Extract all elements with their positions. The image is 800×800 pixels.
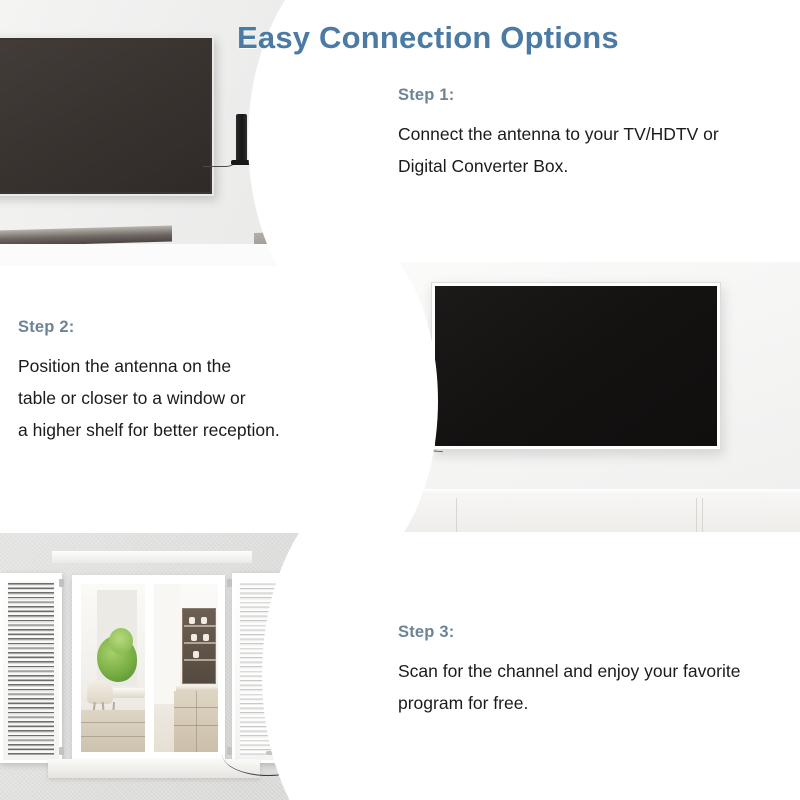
shelf-board [184, 642, 216, 644]
panel-arc-mask [336, 262, 438, 532]
window-pane-left [81, 584, 145, 752]
shelf-jar [191, 634, 197, 641]
step-2-line: Position the antenna on the [18, 351, 338, 383]
louver-slats [8, 581, 54, 755]
kitchen-drawers [174, 691, 218, 752]
console-seam [456, 498, 457, 532]
cabinet-line [81, 736, 145, 737]
drawer-divider [196, 691, 197, 752]
step-1-body: Connect the antenna to your TV/HDTV or D… [398, 119, 790, 183]
shutter-left [0, 573, 62, 763]
product-infographic: Easy Connection Options Step 1: Connect … [0, 0, 800, 800]
tv-screen [435, 286, 717, 446]
shelf-jar [189, 617, 195, 624]
tv-screen [0, 40, 210, 192]
window-pane-right [154, 584, 218, 752]
shelf-jar [193, 651, 199, 658]
step-3-photo [0, 533, 394, 800]
step-3-label: Step 3: [398, 623, 790, 642]
television [0, 36, 214, 196]
step-1-line: Connect the antenna to your TV/HDTV or [398, 119, 790, 151]
step-3-line: Scan for the channel and enjoy your favo… [398, 656, 790, 688]
panel-arc-mask [262, 533, 394, 800]
shelf-jar [203, 634, 209, 641]
step-2-body: Position the antenna on the table or clo… [18, 351, 338, 447]
step-1-label: Step 1: [398, 86, 790, 105]
step-1-text-block: Step 1: Connect the antenna to your TV/H… [398, 86, 790, 183]
console-seam [696, 498, 697, 532]
television [431, 282, 721, 450]
shutter-hinge [59, 579, 64, 587]
potted-plant-top [109, 628, 133, 654]
step-1-line: Digital Converter Box. [398, 151, 790, 183]
step-3-text-block: Step 3: Scan for the channel and enjoy y… [398, 623, 790, 720]
step-2-line: a higher shelf for better reception. [18, 415, 338, 447]
page-title: Easy Connection Options [237, 20, 619, 56]
step-2-photo [336, 262, 800, 532]
shutter-hinge [59, 747, 64, 755]
step-2-text-block: Step 2: Position the antenna on the tabl… [18, 318, 338, 447]
shelf-jar [201, 617, 207, 624]
cabinet-line [81, 722, 145, 723]
antenna-device [236, 114, 247, 162]
step-3-body: Scan for the channel and enjoy your favo… [398, 656, 790, 720]
step-3-line: program for free. [398, 688, 790, 720]
dining-chair [87, 680, 113, 704]
shutter-hinge [227, 579, 232, 587]
window-mullion [145, 579, 154, 757]
interior-scene-left [81, 584, 145, 752]
window-lintel [52, 551, 252, 563]
interior-scene-right [154, 584, 218, 752]
window-frame [72, 575, 225, 761]
shelving-unit [182, 608, 216, 684]
shelf-board [184, 659, 216, 661]
step-2-line: table or closer to a window or [18, 383, 338, 415]
console-seam [702, 498, 703, 532]
shelf-board [184, 625, 216, 627]
step-2-label: Step 2: [18, 318, 338, 337]
lower-cabinets [81, 710, 145, 752]
